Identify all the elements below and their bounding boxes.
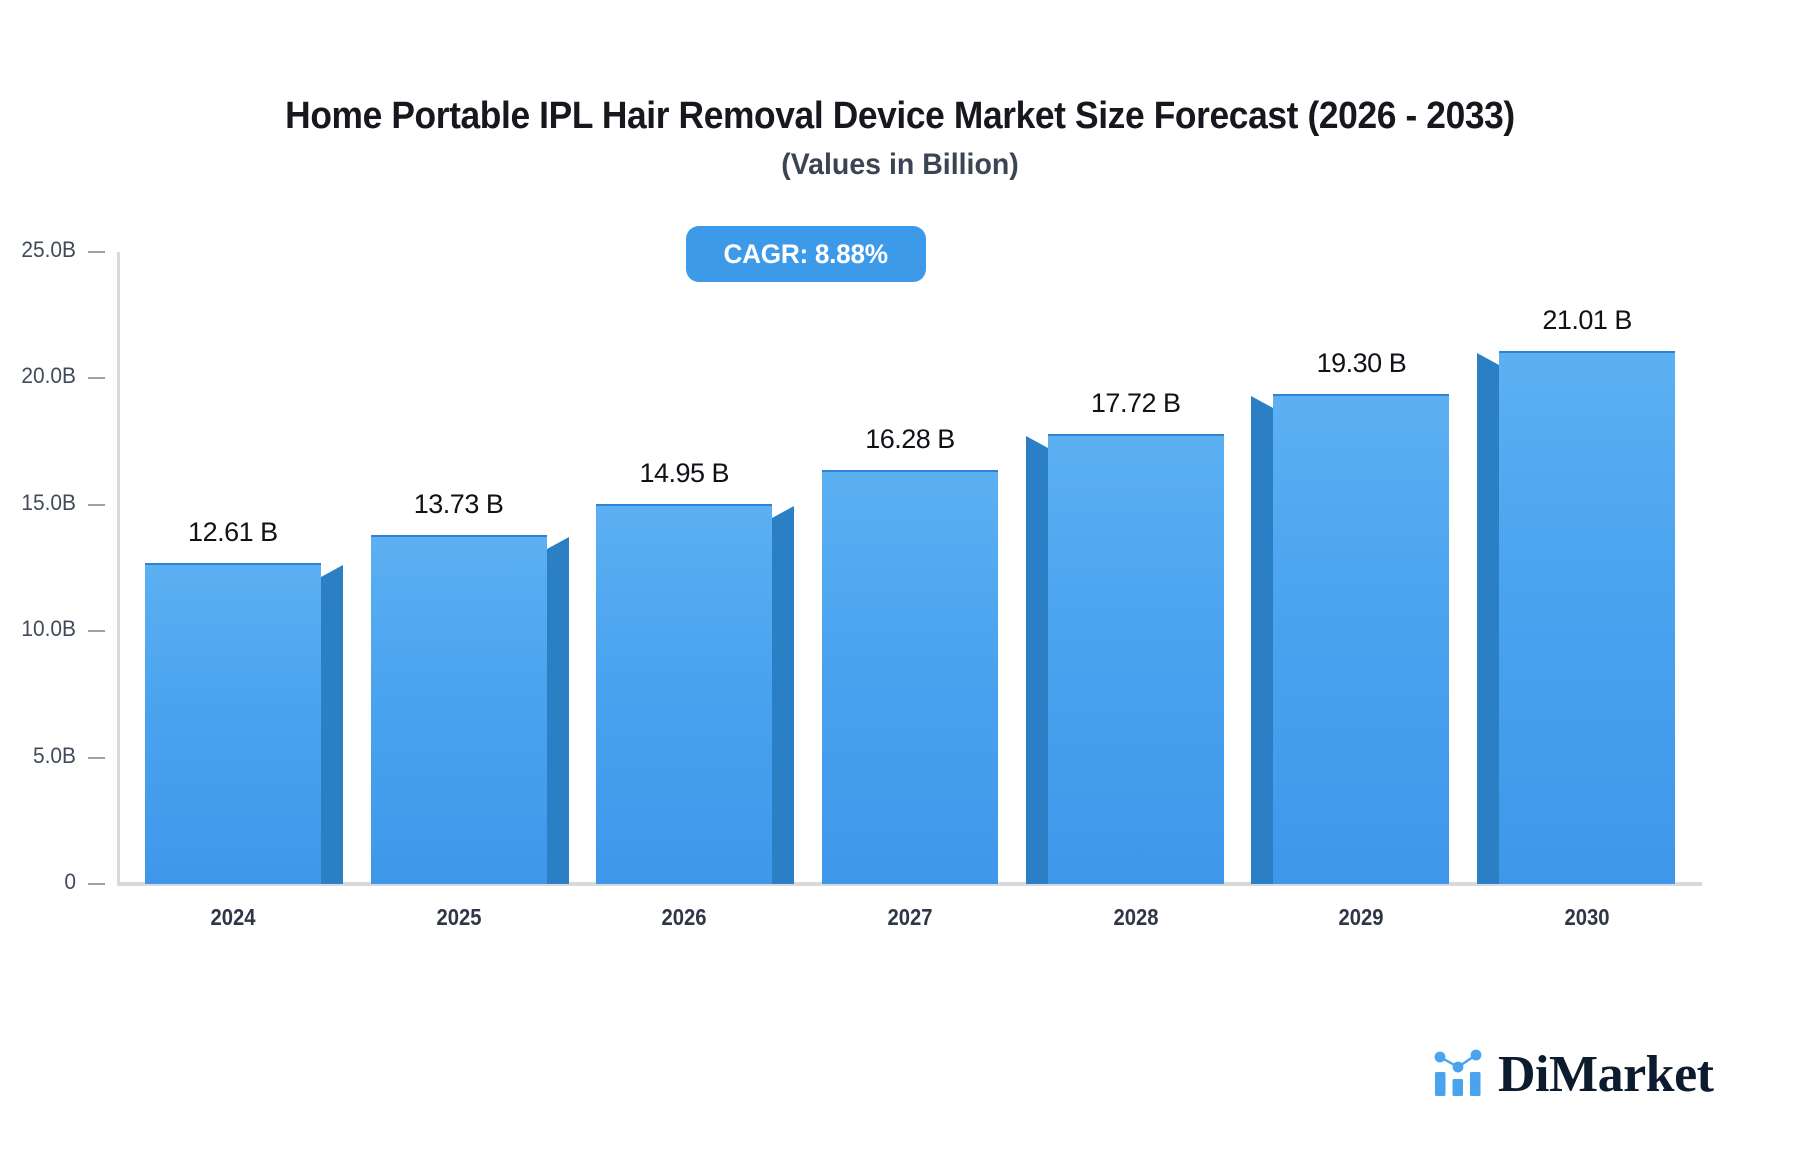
bar-value-label: 14.95 B — [639, 458, 729, 489]
bar-side-face — [1026, 448, 1048, 884]
y-axis-tick-mark — [88, 757, 105, 759]
bar-side-face — [772, 518, 794, 884]
bar-2030[interactable] — [1499, 353, 1675, 884]
bar-value-label: 19.30 B — [1317, 348, 1407, 379]
y-axis-tick-mark — [88, 504, 105, 506]
y-axis-tick-mark — [88, 630, 105, 632]
bar-front-face — [145, 563, 321, 884]
y-axis-tick-label: 0 — [4, 869, 76, 895]
y-axis-tick-label: 15.0B — [4, 490, 76, 516]
bar-side-cap — [1026, 436, 1048, 448]
x-axis-tick-label-2024: 2024 — [171, 904, 294, 931]
y-axis-tick-label: 25.0B — [4, 237, 76, 263]
bar-side-cap — [1251, 396, 1273, 408]
x-axis-tick-label-2028: 2028 — [1074, 904, 1197, 931]
bar-2024[interactable] — [145, 565, 321, 884]
bar-front-face — [822, 470, 998, 884]
bar-side-cap — [321, 565, 343, 577]
bar-front-face — [1499, 351, 1675, 884]
y-axis-tick-mark — [88, 251, 105, 253]
y-axis-tick-mark — [88, 377, 105, 379]
bar-value-label: 21.01 B — [1542, 305, 1632, 336]
bar-front-face — [371, 535, 547, 884]
bar-side-cap — [547, 537, 569, 549]
x-axis-tick-label-2025: 2025 — [397, 904, 520, 931]
bar-2029[interactable] — [1273, 396, 1449, 884]
x-axis-tick-label-2026: 2026 — [623, 904, 746, 931]
bar-value-label: 12.61 B — [188, 517, 278, 548]
bar-side-face — [321, 577, 343, 884]
brand-logo-text: DiMarket — [1498, 1049, 1713, 1101]
bar-front-face — [1273, 394, 1449, 884]
bar-value-label: 16.28 B — [865, 424, 955, 455]
x-axis-tick-label-2029: 2029 — [1300, 904, 1423, 931]
bar-front-face — [1048, 434, 1224, 884]
bar-side-face — [1477, 365, 1499, 884]
bar-value-label: 17.72 B — [1091, 388, 1181, 419]
bar-2027[interactable] — [822, 472, 998, 884]
y-axis-tick-label: 5.0B — [4, 743, 76, 769]
y-axis-tick-label: 10.0B — [4, 616, 76, 642]
bar-front-face — [596, 504, 772, 884]
bar-2026[interactable] — [596, 506, 772, 884]
bar-chart-trend-icon — [1432, 1047, 1484, 1102]
bar-2028[interactable] — [1048, 436, 1224, 884]
bar-value-label: 13.73 B — [414, 489, 504, 520]
bar-side-cap — [772, 506, 794, 518]
y-axis-tick-label: 20.0B — [4, 363, 76, 389]
y-axis-line — [117, 252, 120, 884]
brand-logo: DiMarket — [1432, 1047, 1713, 1102]
bar-side-cap — [1477, 353, 1499, 365]
x-axis-tick-label-2027: 2027 — [848, 904, 971, 931]
bar-side-face — [547, 549, 569, 884]
bar-side-face — [1251, 408, 1273, 884]
y-axis-tick-mark — [88, 883, 105, 885]
x-axis-tick-label-2030: 2030 — [1526, 904, 1649, 931]
chart-plot-area: 05.0B10.0B15.0B20.0B25.0B 12.61 B13.73 B… — [0, 0, 1800, 1156]
bar-2025[interactable] — [371, 537, 547, 884]
